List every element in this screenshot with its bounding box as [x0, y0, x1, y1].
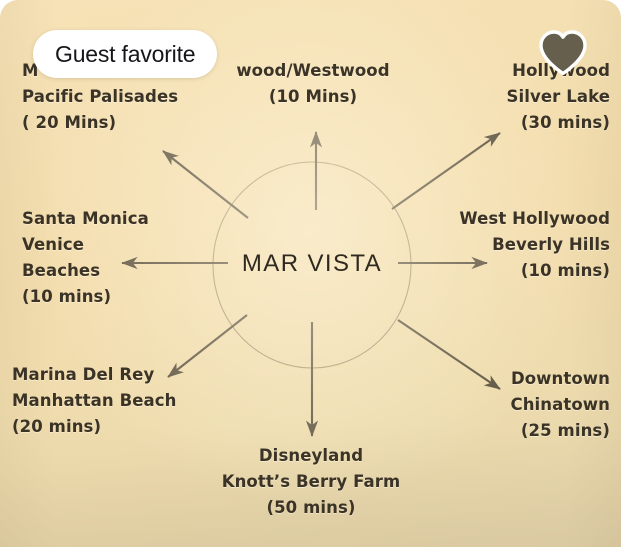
destination-line: Venice — [22, 232, 149, 258]
destination-travel-time: (50 mins) — [178, 495, 444, 521]
destination-line: Disneyland — [178, 443, 444, 469]
arrow-northwest — [163, 151, 248, 218]
heart-icon — [536, 26, 590, 78]
destination-line: Knott’s Berry Farm — [178, 469, 444, 495]
destination-label-marina-del-rey-manhattan-beach: Marina Del Rey Manhattan Beach (20 mins) — [12, 362, 177, 440]
destination-travel-time: (10 mins) — [22, 284, 149, 310]
destination-line: Downtown — [382, 366, 610, 392]
destination-line: Manhattan Beach — [12, 388, 177, 414]
arrow-southwest — [168, 315, 247, 377]
destination-line: Beaches — [22, 258, 149, 284]
arrow-northeast — [392, 133, 500, 209]
destination-line: Beverly Hills — [382, 232, 610, 258]
destination-travel-time: ( 20 Mins) — [22, 110, 178, 136]
favorite-heart-button[interactable] — [536, 26, 590, 78]
destination-label-disneyland-knotts-berry-farm: Disneyland Knott’s Berry Farm (50 mins) — [178, 443, 444, 521]
destination-travel-time: (30 mins) — [382, 110, 610, 136]
destination-label-santa-monica-venice-beaches: Santa Monica Venice Beaches (10 mins) — [22, 206, 149, 310]
destination-label-downtown-chinatown: Downtown Chinatown (25 mins) — [382, 366, 610, 444]
destination-travel-time: (25 mins) — [382, 418, 610, 444]
guest-favorite-badge: Guest favorite — [33, 30, 217, 78]
listing-photo-diagram: MAR VISTA M Pacific Palisades ( 20 Mins)… — [0, 0, 621, 547]
destination-line: Pacific Palisades — [22, 84, 178, 110]
guest-favorite-label: Guest favorite — [55, 41, 195, 68]
destination-line: Marina Del Rey — [12, 362, 177, 388]
destination-label-west-hollywood-beverly-hills: West Hollywood Beverly Hills (10 mins) — [382, 206, 610, 284]
destination-line: Chinatown — [382, 392, 610, 418]
destination-line: West Hollywood — [382, 206, 610, 232]
destination-line: Santa Monica — [22, 206, 149, 232]
destination-travel-time: (20 mins) — [12, 414, 177, 440]
destination-travel-time: (10 mins) — [382, 258, 610, 284]
destination-line: Silver Lake — [382, 84, 610, 110]
